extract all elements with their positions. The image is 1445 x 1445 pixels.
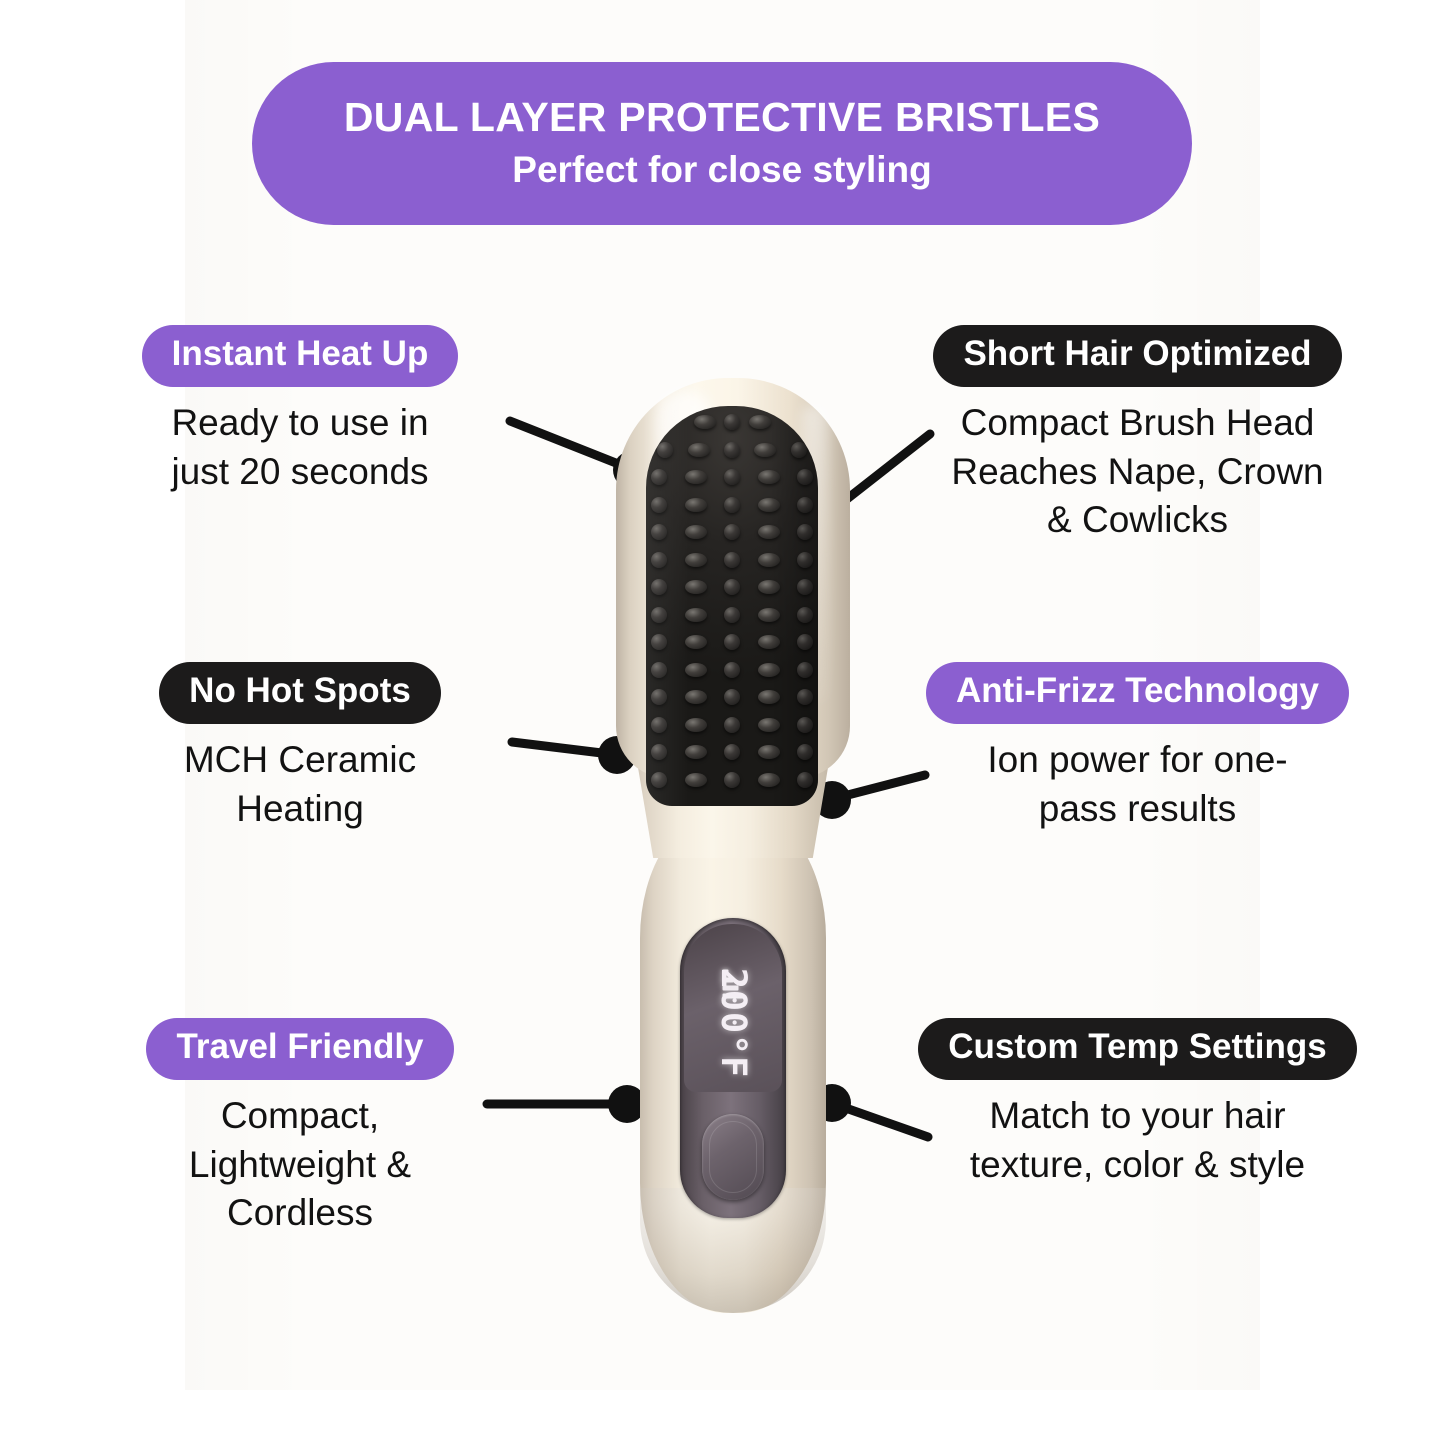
bristle	[724, 552, 740, 568]
bristle	[685, 470, 707, 484]
bristle	[758, 690, 780, 704]
bristle	[685, 718, 707, 732]
bristle	[797, 552, 813, 568]
bristle	[724, 717, 740, 733]
led-display: 200°F	[684, 924, 782, 1092]
bristle	[797, 469, 813, 485]
bristle	[685, 690, 707, 704]
bristle	[758, 470, 780, 484]
bristle	[685, 635, 707, 649]
feature-pill-short-hair-optimized[interactable]: Short Hair Optimized	[933, 325, 1341, 387]
bristle	[657, 442, 673, 458]
bristle	[724, 442, 740, 458]
feature-description-travel-friendly: Compact, Lightweight & Cordless	[70, 1092, 530, 1238]
bristle	[685, 773, 707, 787]
bristle	[797, 772, 813, 788]
bristle	[651, 634, 667, 650]
control-panel: 200°F	[680, 918, 786, 1218]
bristle	[685, 663, 707, 677]
feature-description-custom-temp-settings: Match to your hair texture, color & styl…	[900, 1092, 1375, 1190]
feature-travel-friendly: Travel Friendly Compact, Lightweight & C…	[70, 1018, 530, 1238]
bristle	[724, 469, 740, 485]
bristle	[694, 415, 716, 429]
bristle	[651, 497, 667, 513]
bristle	[724, 744, 740, 760]
bristle	[754, 443, 776, 457]
feature-no-hot-spots: No Hot Spots MCH Ceramic Heating	[70, 662, 530, 833]
bristle	[724, 607, 740, 623]
feature-pill-no-hot-spots[interactable]: No Hot Spots	[159, 662, 441, 724]
feature-custom-temp-settings: Custom Temp Settings Match to your hair …	[900, 1018, 1375, 1189]
bristle	[651, 744, 667, 760]
bristle	[685, 745, 707, 759]
feature-description-anti-frizz-technology: Ion power for one- pass results	[900, 736, 1375, 834]
bristle	[797, 689, 813, 705]
bristle	[758, 580, 780, 594]
bristle	[685, 498, 707, 512]
bristle	[651, 607, 667, 623]
bristle	[651, 717, 667, 733]
feature-description-no-hot-spots: MCH Ceramic Heating	[70, 736, 530, 834]
bristle	[651, 662, 667, 678]
bristle	[724, 497, 740, 513]
feature-pill-anti-frizz-technology[interactable]: Anti-Frizz Technology	[926, 662, 1349, 724]
product-image: 200°F	[598, 378, 866, 1313]
bristle	[651, 524, 667, 540]
bristle	[797, 662, 813, 678]
bristle	[797, 579, 813, 595]
bristle	[797, 497, 813, 513]
feature-short-hair-optimized: Short Hair Optimized Compact Brush Head …	[900, 325, 1375, 545]
bristle	[749, 415, 771, 429]
bristle	[685, 608, 707, 622]
bristle	[651, 469, 667, 485]
bristle	[688, 443, 710, 457]
bristle	[724, 662, 740, 678]
bristle	[758, 525, 780, 539]
bristle	[758, 718, 780, 732]
bristle	[758, 608, 780, 622]
led-temperature-value: 200°F	[713, 968, 753, 1078]
bristle-pad	[646, 406, 818, 806]
bristle	[724, 634, 740, 650]
feature-pill-instant-heat-up[interactable]: Instant Heat Up	[142, 325, 459, 387]
bristle	[758, 663, 780, 677]
feature-pill-travel-friendly[interactable]: Travel Friendly	[146, 1018, 453, 1080]
bristle	[651, 552, 667, 568]
bristle	[685, 553, 707, 567]
bristle	[797, 607, 813, 623]
bristle	[724, 524, 740, 540]
feature-instant-heat-up: Instant Heat Up Ready to use in just 20 …	[70, 325, 530, 496]
feature-pill-custom-temp-settings[interactable]: Custom Temp Settings	[918, 1018, 1357, 1080]
bristle	[797, 717, 813, 733]
bristle	[758, 745, 780, 759]
bristle	[651, 689, 667, 705]
bristle	[758, 498, 780, 512]
feature-anti-frizz-technology: Anti-Frizz Technology Ion power for one-…	[900, 662, 1375, 833]
feature-description-short-hair-optimized: Compact Brush Head Reaches Nape, Crown &…	[900, 399, 1375, 545]
feature-description-instant-heat-up: Ready to use in just 20 seconds	[70, 399, 530, 497]
bristle	[797, 524, 813, 540]
bristle	[797, 634, 813, 650]
bristle	[758, 635, 780, 649]
bristle	[724, 414, 740, 430]
bristle	[651, 579, 667, 595]
bristle	[758, 773, 780, 787]
bristle	[651, 772, 667, 788]
bristle	[685, 580, 707, 594]
bristle	[758, 553, 780, 567]
power-button[interactable]	[702, 1114, 764, 1200]
bristle	[797, 744, 813, 760]
bristle	[724, 772, 740, 788]
bristle	[791, 442, 807, 458]
bristle	[724, 689, 740, 705]
bristle	[685, 525, 707, 539]
bristle	[724, 579, 740, 595]
